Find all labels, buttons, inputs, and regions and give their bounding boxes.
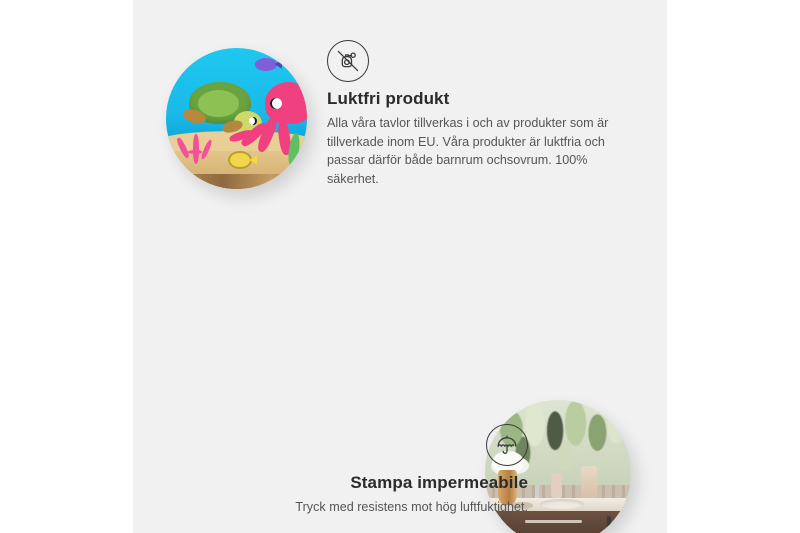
feature-title: Luktfri produkt (327, 89, 627, 109)
rock-row (166, 174, 307, 190)
no-fragrance-icon (327, 40, 369, 82)
underwater-illustration (166, 48, 307, 189)
blue-fish (255, 58, 278, 71)
feature-infographic: Luktfri produkt Alla våra tavlor tillver… (0, 0, 800, 533)
feature-body: Alla våra tavlor tillverkas i och av pro… (327, 114, 627, 188)
feature-block-odour-free: Luktfri produkt Alla våra tavlor tillver… (133, 0, 667, 200)
feature-block-easy-mounting: Enkel montering Färgdig på 60 minuter. (133, 330, 667, 530)
content-panel: Luktfri produkt Alla våra tavlor tillver… (133, 0, 667, 533)
feature-copy-odour-free: Luktfri produkt Alla våra tavlor tillver… (327, 40, 627, 188)
underwater-cartoon-photo (166, 48, 307, 189)
coral (177, 127, 216, 164)
